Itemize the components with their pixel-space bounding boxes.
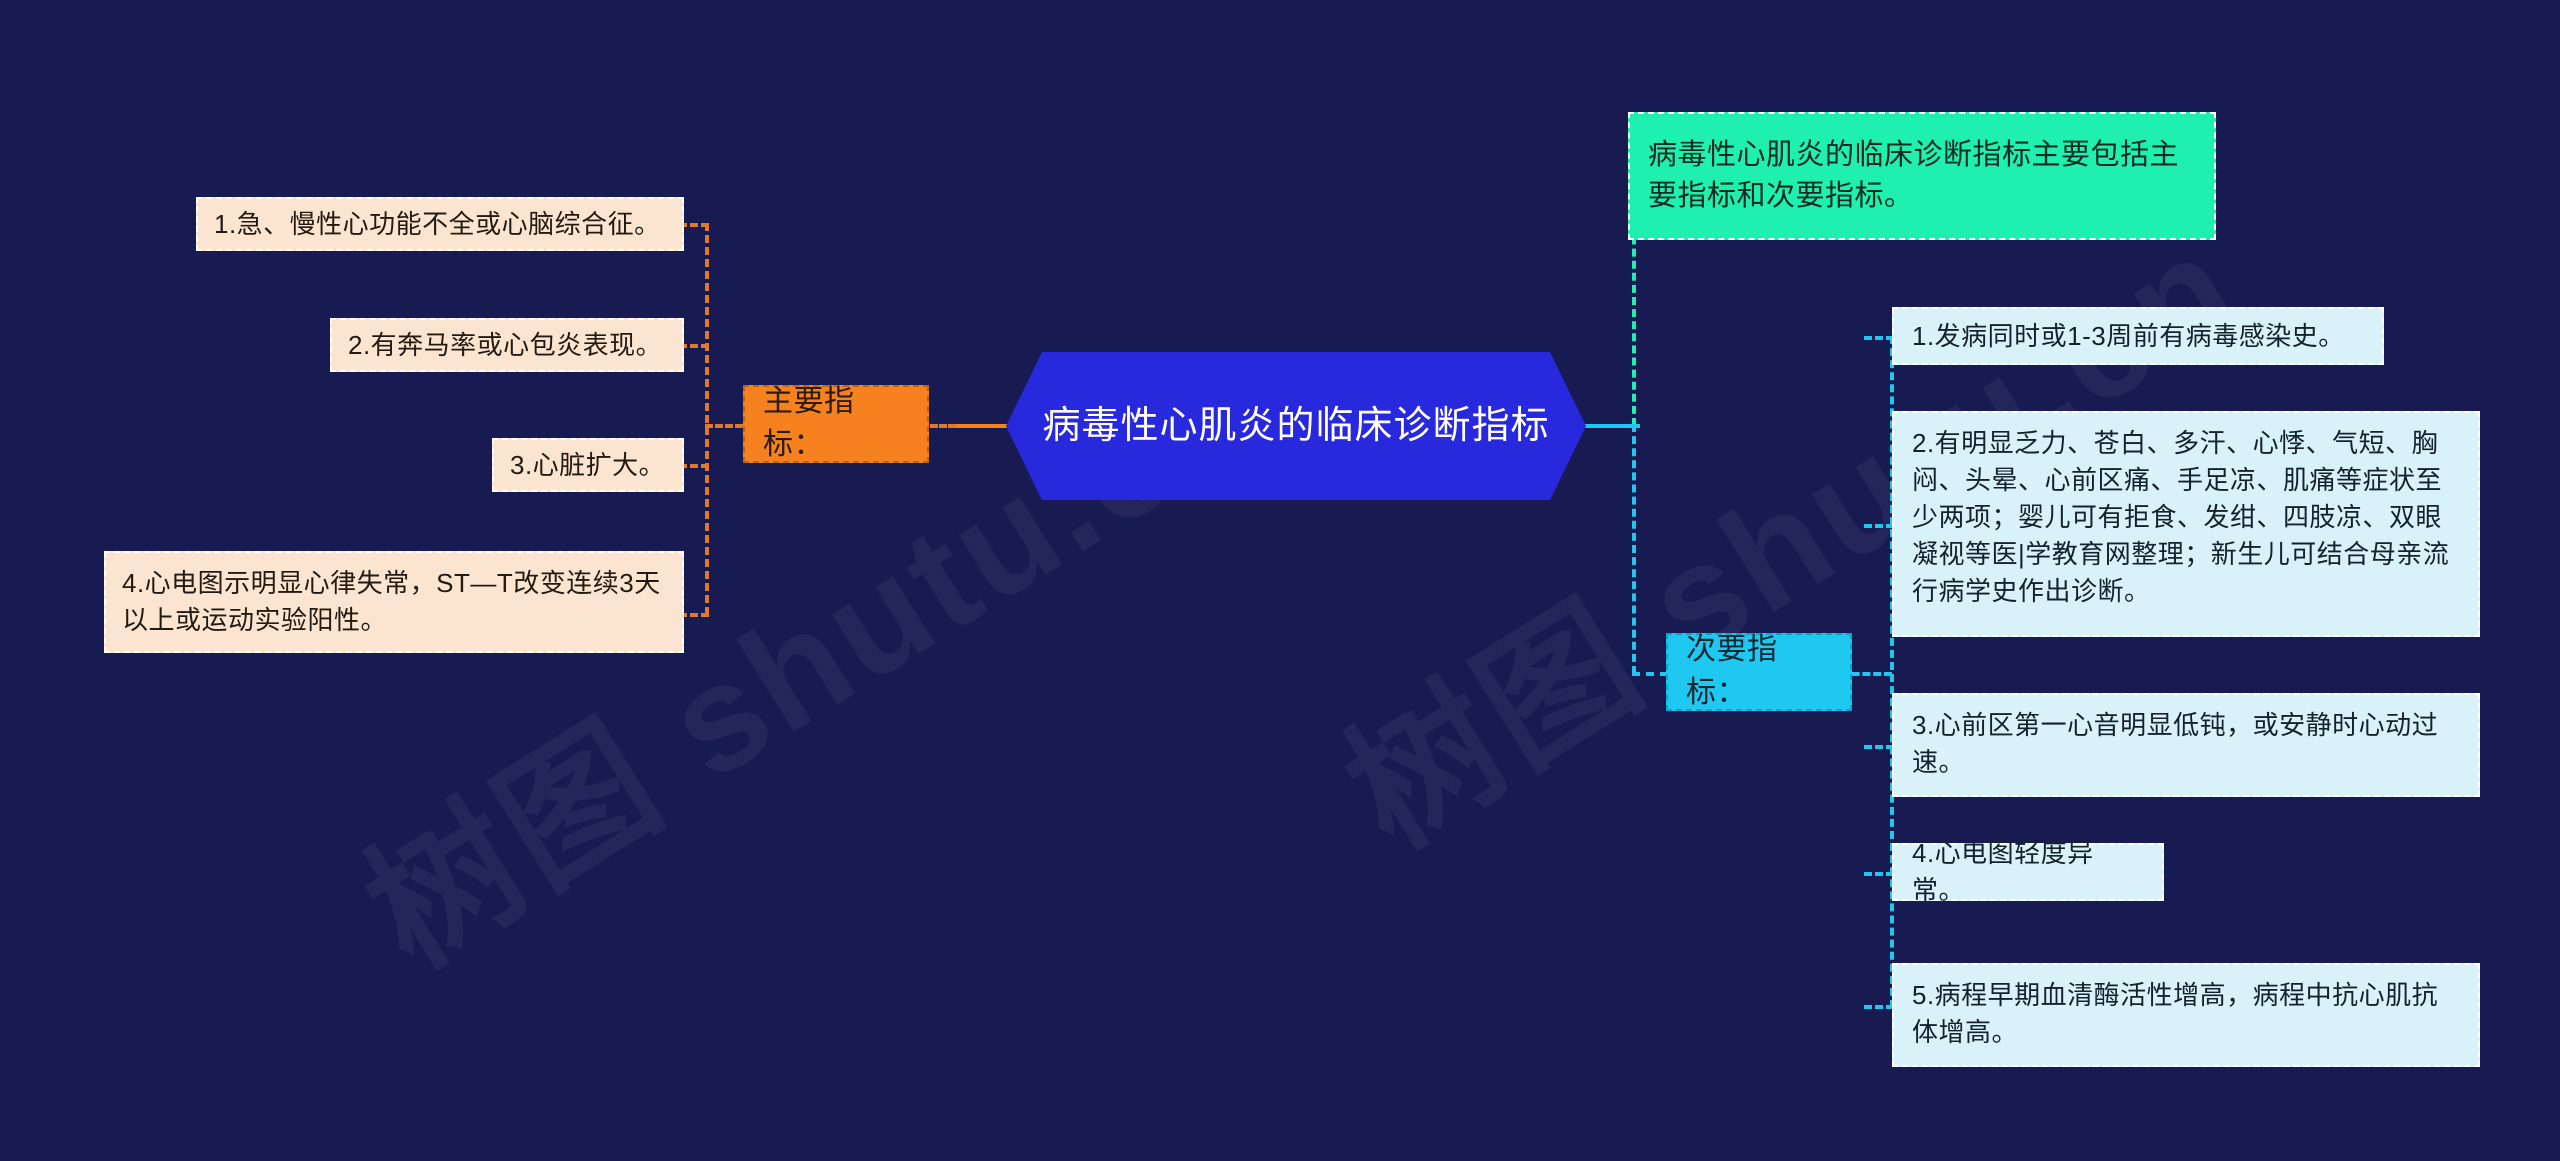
connector-minor-item-5 [1864, 1005, 1894, 1009]
major-item-4-text: 4.心电图示明显心律失常，ST—T改变连续3天以上或运动实验阳性。 [122, 565, 666, 639]
summary-node-label: 病毒性心肌炎的临床诊断指标主要包括主要指标和次要指标。 [1648, 135, 2196, 217]
list-item[interactable]: 4.心电图轻度异常。 [1892, 843, 2164, 901]
connector-major-spine-link [705, 424, 743, 428]
branch-label-major[interactable]: 主要指标： [743, 385, 929, 463]
connector-minor-item-3 [1864, 745, 1894, 749]
minor-item-5-text: 5.病程早期血清酶活性增高，病程中抗心肌抗体增高。 [1912, 977, 2460, 1051]
list-item[interactable]: 4.心电图示明显心律失常，ST—T改变连续3天以上或运动实验阳性。 [104, 551, 684, 653]
major-item-3-text: 3.心脏扩大。 [510, 447, 665, 484]
connector-minor-item-1 [1864, 336, 1894, 340]
summary-node[interactable]: 病毒性心肌炎的临床诊断指标主要包括主要指标和次要指标。 [1628, 112, 2216, 240]
major-item-1-text: 1.急、慢性心功能不全或心脑综合征。 [214, 206, 661, 243]
minor-item-4-text: 4.心电图轻度异常。 [1912, 835, 2144, 909]
connector-root-to-right [1580, 424, 1640, 428]
list-item[interactable]: 3.心脏扩大。 [492, 438, 684, 492]
connector-minor-item-4 [1864, 872, 1894, 876]
connector-major-spine [705, 223, 709, 615]
connector-root-to-major [952, 424, 1012, 428]
mindmap-canvas: 树图 shutu.cn 树图 shutu.cn 病毒性心肌炎的临床诊断指标 病毒… [0, 0, 2560, 1161]
list-item[interactable]: 3.心前区第一心音明显低钝，或安静时心动过速。 [1892, 693, 2480, 797]
connector-minor-item-2 [1864, 524, 1894, 528]
major-item-2-text: 2.有奔马率或心包炎表现。 [348, 327, 662, 364]
root-node[interactable]: 病毒性心肌炎的临床诊断指标 [1006, 352, 1586, 500]
list-item[interactable]: 2.有奔马率或心包炎表现。 [330, 318, 684, 372]
connector-major-stub [930, 424, 956, 428]
branch-label-major-text: 主要指标： [763, 381, 909, 466]
list-item[interactable]: 1.急、慢性心功能不全或心脑综合征。 [196, 197, 684, 251]
connector-minor-spine [1632, 424, 1636, 674]
list-item[interactable]: 5.病程早期血清酶活性增高，病程中抗心肌抗体增高。 [1892, 963, 2480, 1067]
branch-label-minor-text: 次要指标： [1686, 629, 1832, 714]
connector-minor-link [1632, 672, 1668, 676]
minor-item-1-text: 1.发病同时或1-3周前有病毒感染史。 [1912, 318, 2345, 355]
branch-label-minor[interactable]: 次要指标： [1666, 633, 1852, 711]
list-item[interactable]: 2.有明显乏力、苍白、多汗、心悸、气短、胸闷、头晕、心前区痛、手足凉、肌痛等症状… [1892, 411, 2480, 637]
root-node-label: 病毒性心肌炎的临床诊断指标 [1042, 401, 1549, 451]
minor-item-3-text: 3.心前区第一心音明显低钝，或安静时心动过速。 [1912, 707, 2460, 781]
minor-item-2-text: 2.有明显乏力、苍白、多汗、心悸、气短、胸闷、头晕、心前区痛、手足凉、肌痛等症状… [1912, 425, 2460, 610]
list-item[interactable]: 1.发病同时或1-3周前有病毒感染史。 [1892, 307, 2384, 365]
